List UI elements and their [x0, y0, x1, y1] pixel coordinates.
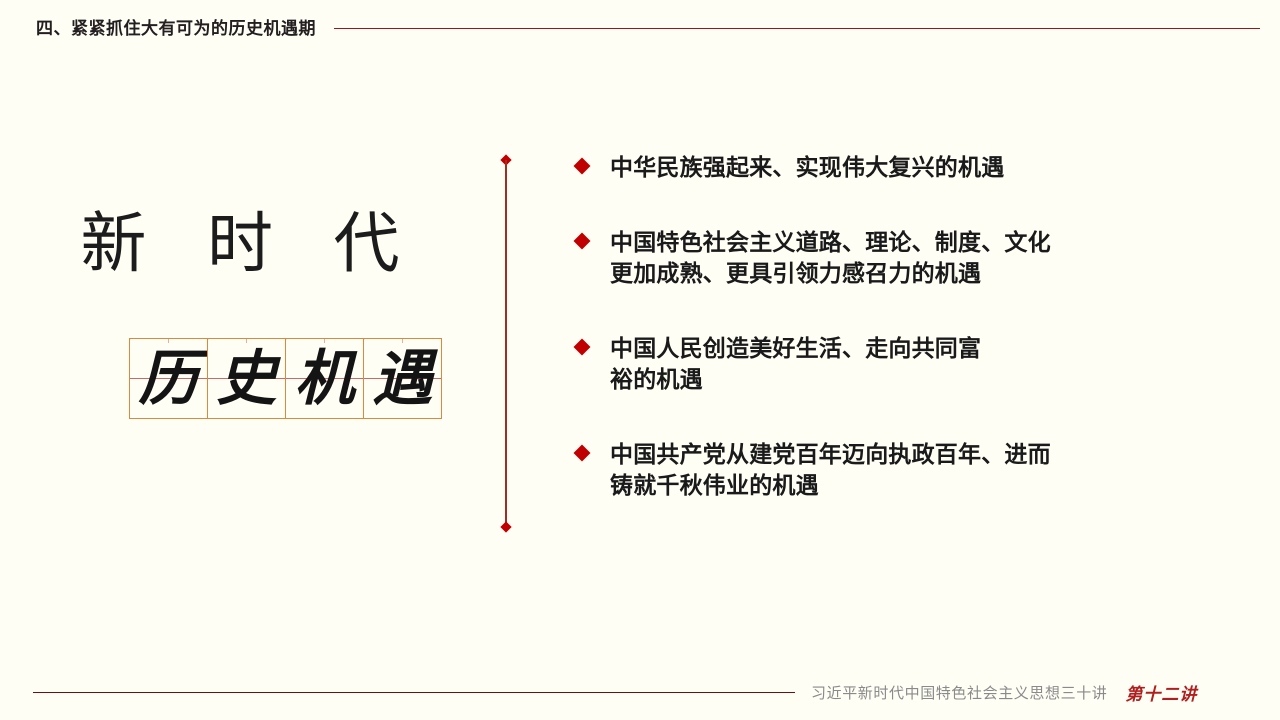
calligraphy-grid-cell: 遇 — [364, 339, 441, 418]
bullet-text: 中国人民创造美好生活、走向共同富 裕的机遇 — [610, 333, 981, 395]
page-title: 四、紧紧抓住大有可为的历史机遇期 — [36, 20, 316, 37]
slide-header: 四、紧紧抓住大有可为的历史机遇期 — [0, 0, 1280, 56]
list-item: 中国特色社会主义道路、理论、制度、文化 更加成熟、更具引领力感召力的机遇 — [576, 227, 1236, 289]
calligraphy-grid-cell: 史 — [208, 339, 286, 418]
footer-series-title: 习近平新时代中国特色社会主义思想三十讲 — [811, 682, 1107, 703]
calligraphy-char: 史 — [208, 339, 285, 418]
bullet-text: 中华民族强起来、实现伟大复兴的机遇 — [610, 152, 1004, 183]
calligraphy-char: 历 — [130, 339, 207, 418]
era-title-text: 新 时 代 — [0, 212, 480, 278]
bullet-list: 中华民族强起来、实现伟大复兴的机遇 中国特色社会主义道路、理论、制度、文化 更加… — [576, 152, 1236, 501]
left-illustration-panel: 新 时 代 历 史 机 遇 — [0, 150, 480, 530]
footer-divider-rule — [33, 692, 795, 693]
calligraphy-grid-cell: 历 — [130, 339, 208, 418]
list-item: 中华民族强起来、实现伟大复兴的机遇 — [576, 152, 1236, 183]
footer-lecture-number: 第十二讲 — [1125, 680, 1197, 705]
divider-cap-diamond-icon — [500, 521, 511, 532]
diamond-bullet-icon — [574, 233, 591, 250]
calligraphy-char: 遇 — [364, 339, 441, 418]
calligraphy-char: 机 — [286, 339, 363, 418]
calligraphy-grid-cell: 机 — [286, 339, 364, 418]
list-item: 中国共产党从建党百年迈向执政百年、进而 铸就千秋伟业的机遇 — [576, 439, 1236, 501]
header-divider-rule — [334, 28, 1260, 29]
slide-footer: 习近平新时代中国特色社会主义思想三十讲 第十二讲 — [0, 664, 1280, 720]
bullet-text: 中国共产党从建党百年迈向执政百年、进而 铸就千秋伟业的机遇 — [610, 439, 1051, 501]
calligraphy-grid: 历 史 机 遇 — [129, 338, 442, 419]
bullet-text: 中国特色社会主义道路、理论、制度、文化 更加成熟、更具引领力感召力的机遇 — [610, 227, 1051, 289]
diamond-bullet-icon — [574, 158, 591, 175]
diamond-bullet-icon — [574, 445, 591, 462]
diamond-bullet-icon — [574, 339, 591, 356]
vertical-divider — [505, 160, 507, 527]
list-item: 中国人民创造美好生活、走向共同富 裕的机遇 — [576, 333, 1236, 395]
divider-line — [505, 160, 507, 527]
